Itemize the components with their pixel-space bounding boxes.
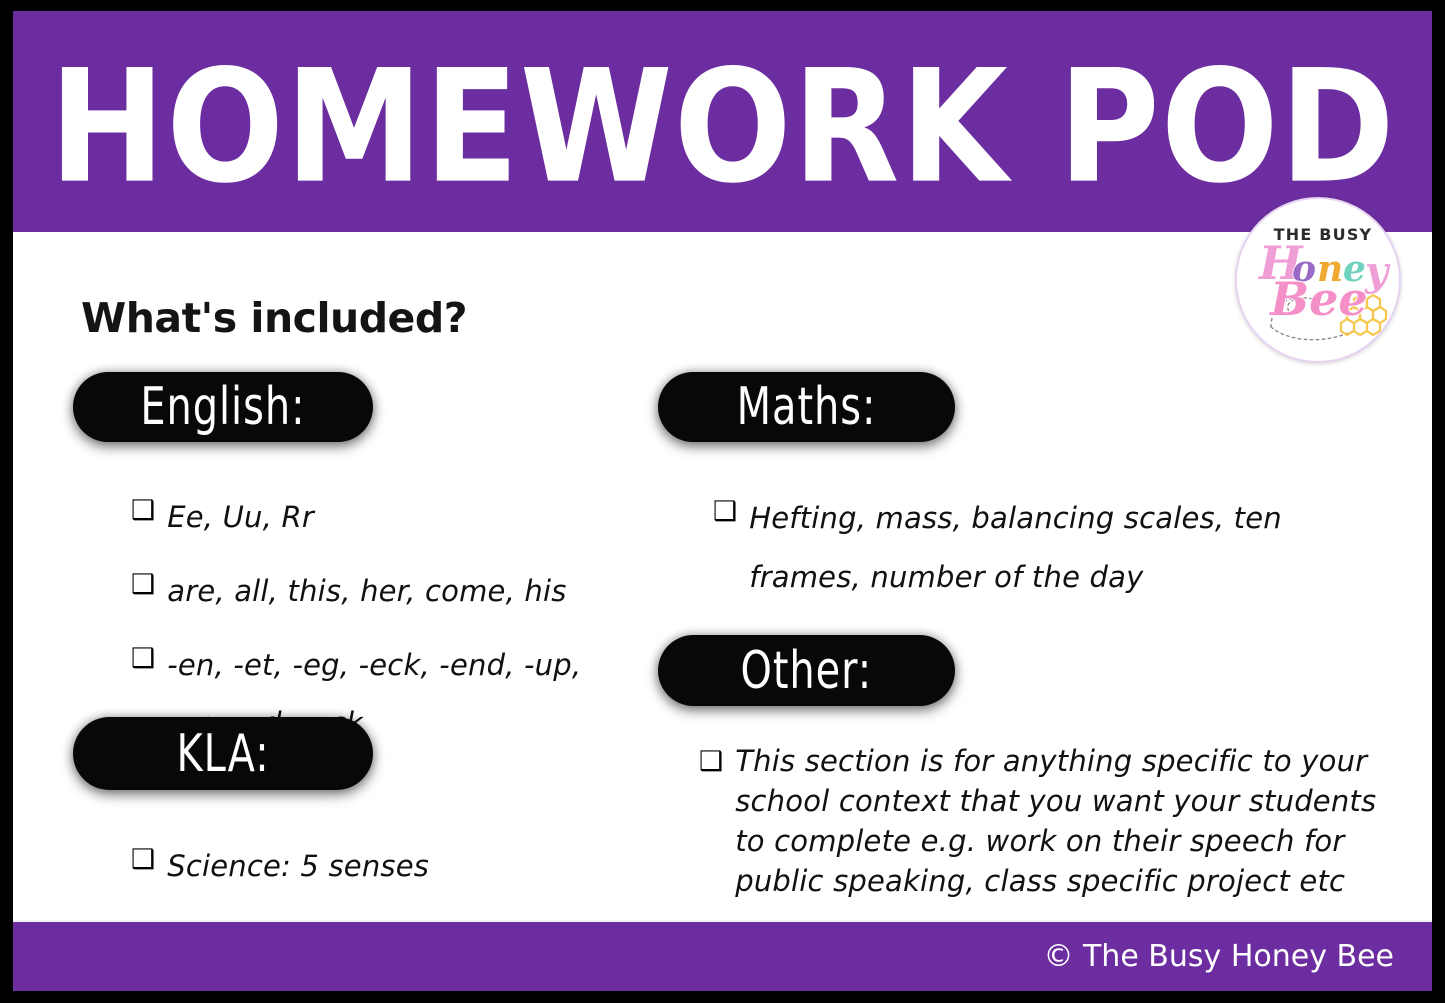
category-pill-maths-label: Maths:	[737, 379, 877, 435]
logo-bee-word: Bee	[1268, 272, 1367, 326]
category-pill-other-label: Other:	[741, 642, 873, 698]
checkbox-icon[interactable]: ❑	[713, 491, 737, 533]
checkbox-icon[interactable]: ❑	[131, 638, 155, 680]
page-title: HOMEWORK POD	[13, 39, 1432, 216]
list-item[interactable]: ❑ This section is for anything specific …	[699, 741, 1399, 901]
list-item-label: are, all, this, her, come, his	[167, 562, 566, 620]
svg-text:y: y	[1364, 248, 1391, 295]
copyright-text: © The Busy Honey Bee	[1043, 940, 1394, 974]
honey-bee-logo-icon: THE BUSY H o n e y Bee	[1237, 199, 1401, 363]
list-item-label: Ee, Uu, Rr	[167, 488, 314, 546]
category-pill-kla-label: KLA:	[176, 725, 269, 781]
checkbox-icon[interactable]: ❑	[699, 742, 723, 782]
checklist-other: ❑ This section is for anything specific …	[699, 741, 1399, 901]
logo-disc: THE BUSY H o n e y Bee	[1235, 197, 1401, 363]
category-pill-maths[interactable]: Maths:	[658, 372, 955, 442]
checkbox-icon[interactable]: ❑	[131, 564, 155, 606]
checklist-kla: ❑ Science: 5 senses	[131, 837, 601, 895]
category-pill-kla[interactable]: KLA:	[73, 717, 373, 790]
category-pill-english-label: English:	[140, 379, 305, 435]
category-pill-other[interactable]: Other:	[658, 635, 955, 706]
list-item[interactable]: ❑ Science: 5 senses	[131, 837, 601, 895]
header-band: HOMEWORK POD	[13, 11, 1432, 232]
checklist-english: ❑ Ee, Uu, Rr ❑ are, all, this, her, come…	[131, 488, 601, 752]
footer-band: © The Busy Honey Bee	[13, 922, 1432, 991]
list-item[interactable]: ❑ Hefting, mass, balancing scales, ten f…	[713, 489, 1313, 607]
checkbox-icon[interactable]: ❑	[131, 490, 155, 532]
category-pill-english[interactable]: English:	[73, 372, 373, 442]
list-item[interactable]: ❑ are, all, this, her, come, his	[131, 562, 601, 620]
list-item[interactable]: ❑ Ee, Uu, Rr	[131, 488, 601, 546]
list-item-label: Science: 5 senses	[167, 837, 429, 895]
slide-canvas: HOMEWORK POD What's included? English: ❑…	[13, 11, 1432, 991]
brand-logo[interactable]: THE BUSY H o n e y Bee	[1235, 197, 1401, 363]
checkbox-icon[interactable]: ❑	[131, 839, 155, 881]
list-item-label: Hefting, mass, balancing scales, ten fra…	[749, 489, 1313, 607]
checklist-maths: ❑ Hefting, mass, balancing scales, ten f…	[713, 489, 1313, 607]
list-item-label: This section is for anything specific to…	[735, 741, 1399, 901]
section-heading-whats-included: What's included?	[81, 294, 467, 342]
